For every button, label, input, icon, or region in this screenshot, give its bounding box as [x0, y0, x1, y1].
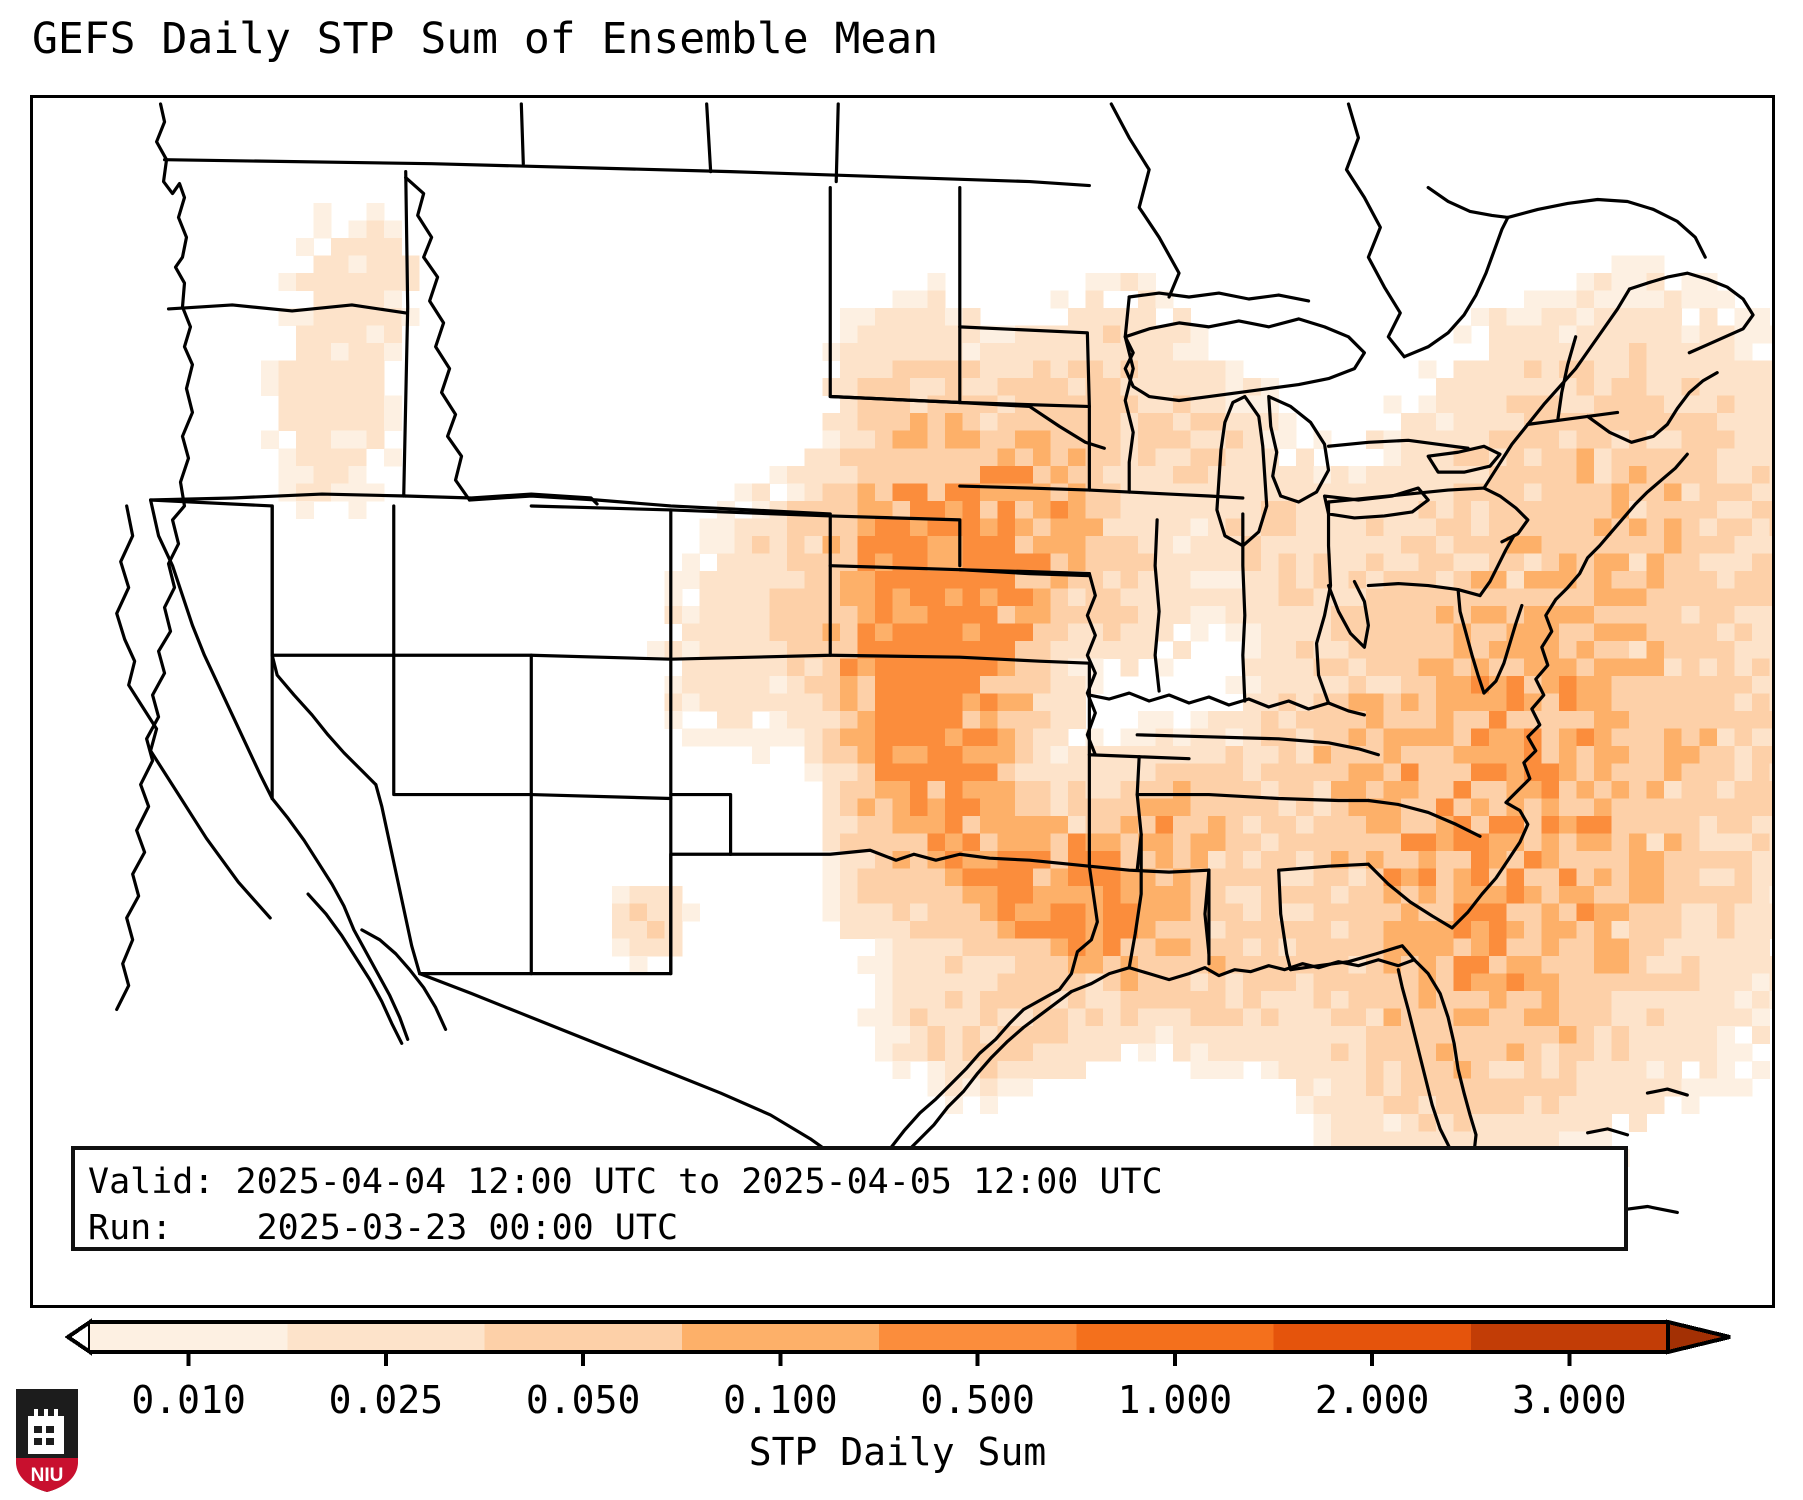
stp-grid-cell [1717, 518, 1735, 536]
conus-map-frame[interactable]: Valid: 2025-04-04 12:00 UTC to 2025-04-0… [30, 95, 1775, 1308]
stp-grid-cell [1208, 483, 1226, 501]
stp-grid-cell [1384, 1114, 1402, 1132]
stp-grid-cell [910, 448, 928, 466]
stp-grid-cell [1050, 921, 1068, 939]
stp-grid-cell [1120, 658, 1138, 676]
stp-grid-cell [1138, 763, 1156, 781]
stp-grid-cell [1576, 641, 1594, 659]
stp-grid-cell [384, 308, 402, 326]
stp-grid-cell [1664, 781, 1682, 799]
stp-grid-cell [1050, 378, 1068, 396]
stp-grid-cell [1191, 781, 1209, 799]
stp-grid-cell [1226, 728, 1244, 746]
stp-grid-cell [1454, 1114, 1472, 1132]
stp-grid-cell [1664, 413, 1682, 431]
stp-grid-cell [1348, 991, 1366, 1009]
stp-grid-cell [980, 746, 998, 764]
stp-grid-cell [1506, 1026, 1524, 1044]
stp-grid-cell [664, 886, 682, 904]
stp-grid-cell [875, 466, 893, 484]
stp-grid-cell [945, 886, 963, 904]
stp-grid-cell [1401, 921, 1419, 939]
stp-grid-cell [1752, 483, 1770, 501]
stp-grid-cell [1699, 869, 1717, 887]
stp-grid-cell [1576, 816, 1594, 834]
stp-grid-cell [1647, 921, 1665, 939]
stp-grid-cell [1138, 834, 1156, 852]
stp-grid-cell [1559, 588, 1577, 606]
stp-grid-cell [1173, 834, 1191, 852]
stp-grid-cell [1541, 1096, 1559, 1114]
stp-grid-cell [1120, 1009, 1138, 1027]
stp-grid-cell [1612, 799, 1630, 817]
stp-grid-cell [980, 956, 998, 974]
stp-grid-cell [875, 483, 893, 501]
stp-grid-cell [770, 571, 788, 589]
stp-grid-cell [945, 396, 963, 414]
stp-grid-cell [910, 308, 928, 326]
stp-grid-cell [998, 991, 1016, 1009]
stp-grid-cell [1331, 1061, 1349, 1079]
stp-grid-cell [875, 396, 893, 414]
stp-grid-cell [1033, 799, 1051, 817]
stp-grid-cell [1524, 291, 1542, 309]
stp-grid-cell [1068, 676, 1086, 694]
stp-grid-cell [1068, 361, 1086, 379]
stp-grid-cell [629, 939, 647, 957]
stp-grid-cell [1156, 728, 1174, 746]
stp-grid-cell [1454, 378, 1472, 396]
stp-grid-cell [1103, 536, 1121, 554]
stp-grid-cell [1138, 781, 1156, 799]
stp-grid-cell [822, 553, 840, 571]
stp-grid-cell [1752, 746, 1770, 764]
stp-grid-cell [349, 431, 367, 449]
stp-grid-cell [1138, 326, 1156, 344]
stp-grid-cell [314, 361, 332, 379]
stp-grid-cell [752, 518, 770, 536]
stp-grid-cell [1559, 571, 1577, 589]
stp-grid-cell [1261, 974, 1279, 992]
stp-grid-cell [1296, 693, 1314, 711]
stp-grid-cell [1489, 378, 1507, 396]
stp-grid-cell [1384, 483, 1402, 501]
stp-grid-cell [805, 448, 823, 466]
stp-grid-cell [945, 501, 963, 519]
stp-grid-cell [1664, 1026, 1682, 1044]
stp-grid-cell [1156, 1026, 1174, 1044]
stp-grid-cell [1050, 711, 1068, 729]
stp-grid-cell [1173, 1026, 1191, 1044]
stp-grid-cell [1313, 991, 1331, 1009]
stp-grid-cell [1682, 834, 1700, 852]
stp-grid-cell [1015, 921, 1033, 939]
stp-grid-cell [1629, 1061, 1647, 1079]
stp-grid-cell [1769, 413, 1772, 431]
stp-grid-cell [1401, 869, 1419, 887]
stp-grid-cell [1524, 518, 1542, 536]
stp-grid-cell [384, 238, 402, 256]
stp-grid-cell [1541, 676, 1559, 694]
stp-grid-cell [928, 518, 946, 536]
stp-grid-cell [928, 886, 946, 904]
stp-grid-cell [331, 396, 349, 414]
stp-grid-cell [875, 1044, 893, 1062]
stp-grid-cell [1033, 693, 1051, 711]
stp-grid-cell [1612, 378, 1630, 396]
stp-grid-cell [752, 623, 770, 641]
stp-grid-cell [822, 518, 840, 536]
stp-grid-cell [910, 921, 928, 939]
stp-grid-cell [928, 921, 946, 939]
stp-grid-cell [1594, 571, 1612, 589]
stp-grid-cell [1120, 273, 1138, 291]
stp-grid-cell [1612, 711, 1630, 729]
stp-grid-cell [1682, 763, 1700, 781]
stp-grid-cell [1541, 361, 1559, 379]
stp-grid-cell [1629, 728, 1647, 746]
stp-grid-cell [1682, 641, 1700, 659]
stp-grid-cell [822, 676, 840, 694]
stp-grid-cell [840, 763, 858, 781]
stp-grid-cell [945, 1026, 963, 1044]
stp-grid-cell [1524, 343, 1542, 361]
stp-grid-cell [857, 904, 875, 922]
stp-grid-cell [1664, 606, 1682, 624]
stp-grid-cell [1296, 711, 1314, 729]
stp-grid-cell [1629, 571, 1647, 589]
stp-grid-cell [1717, 834, 1735, 852]
stp-grid-cell [1313, 921, 1331, 939]
stp-grid-cell [1594, 1044, 1612, 1062]
stp-grid-cell [1331, 904, 1349, 922]
stp-grid-cell [1384, 588, 1402, 606]
stp-grid-cell [1524, 1114, 1542, 1132]
stp-grid-cell [1366, 904, 1384, 922]
stp-grid-cell [1296, 956, 1314, 974]
stp-grid-cell [1296, 816, 1314, 834]
stp-grid-cell [980, 1026, 998, 1044]
stp-grid-cell [1401, 693, 1419, 711]
stp-grid-cell [1612, 1061, 1630, 1079]
stp-grid-cell [1576, 518, 1594, 536]
stp-grid-cell [1629, 308, 1647, 326]
stp-grid-cell [1050, 1026, 1068, 1044]
stp-grid-cell [1085, 851, 1103, 869]
stp-grid-cell [1033, 676, 1051, 694]
stp-grid-cell [875, 834, 893, 852]
stp-grid-cell [1033, 1061, 1051, 1079]
stp-grid-cell [1647, 588, 1665, 606]
stp-grid-cell [1436, 431, 1454, 449]
stp-grid-cell [1682, 623, 1700, 641]
stp-grid-cell [366, 431, 384, 449]
stp-grid-cell [1103, 763, 1121, 781]
stp-grid-cell [1384, 746, 1402, 764]
stp-grid-cell [1682, 501, 1700, 519]
stp-grid-cell [1682, 781, 1700, 799]
stp-grid-cell [1471, 483, 1489, 501]
stp-grid-cell [1401, 466, 1419, 484]
stp-grid-cell [1050, 553, 1068, 571]
colorbar[interactable] [0, 1316, 1803, 1366]
stp-grid-cell [980, 763, 998, 781]
stp-grid-cell [1489, 834, 1507, 852]
stp-grid-cell [1559, 553, 1577, 571]
stp-grid-cell [647, 921, 665, 939]
stp-grid-cell [1506, 816, 1524, 834]
stp-grid-cell [1664, 851, 1682, 869]
stp-grid-cell [980, 641, 998, 659]
stp-grid-cell [1173, 326, 1191, 344]
stp-grid-cell [980, 396, 998, 414]
stp-grid-cell [787, 623, 805, 641]
stp-grid-cell [1068, 921, 1086, 939]
stp-grid-cell [875, 676, 893, 694]
stp-grid-cell [279, 273, 297, 291]
stp-grid-cell [1015, 904, 1033, 922]
stp-grid-cell [1524, 326, 1542, 344]
stp-grid-cell [1454, 904, 1472, 922]
stp-grid-cell [1419, 641, 1437, 659]
stp-grid-cell [1682, 431, 1700, 449]
stp-grid-cell [1647, 361, 1665, 379]
stp-grid-cell [1612, 991, 1630, 1009]
stp-grid-cell [1243, 623, 1261, 641]
stp-grid-cell [1506, 781, 1524, 799]
stp-grid-cell [279, 413, 297, 431]
stp-grid-cell [875, 588, 893, 606]
stp-grid-cell [1769, 501, 1772, 519]
stp-grid-cell [1103, 641, 1121, 659]
stp-grid-cell [1261, 1026, 1279, 1044]
stp-grid-cell [963, 343, 981, 361]
stp-grid-cell [1068, 869, 1086, 887]
stp-grid-cell [1366, 1009, 1384, 1027]
stp-grid-cell [1138, 343, 1156, 361]
stp-grid-cell [1682, 939, 1700, 957]
stp-grid-cell [349, 378, 367, 396]
stp-grid-cell [928, 991, 946, 1009]
stp-grid-cell [1401, 483, 1419, 501]
stp-grid-cell [1524, 763, 1542, 781]
stp-grid-cell [296, 273, 314, 291]
stp-grid-cell [1103, 1026, 1121, 1044]
stp-grid-cell [1243, 886, 1261, 904]
stp-grid-cell [1559, 326, 1577, 344]
stp-grid-cell [1208, 396, 1226, 414]
stp-grid-cell [1647, 431, 1665, 449]
stp-grid-cell [314, 326, 332, 344]
stp-grid-cell [1085, 588, 1103, 606]
stp-grid-cell [1612, 326, 1630, 344]
stp-grid-cell [1068, 1044, 1086, 1062]
stp-grid-cell [1752, 501, 1770, 519]
stp-grid-cell [1629, 641, 1647, 659]
stp-grid-cell [1576, 886, 1594, 904]
stp-grid-cell [1120, 571, 1138, 589]
colorbar-axis-label: STP Daily Sum [0, 1430, 1803, 1474]
stp-grid-cell [1541, 641, 1559, 659]
stp-grid-cell [1717, 921, 1735, 939]
stp-grid-cell [1068, 326, 1086, 344]
stp-grid-cell [1296, 939, 1314, 957]
stp-grid-cell [1576, 956, 1594, 974]
stp-grid-cell [682, 623, 700, 641]
stp-grid-cell [752, 658, 770, 676]
stp-grid-cell [1033, 869, 1051, 887]
stp-grid-cell [1226, 763, 1244, 781]
stp-grid-cell [875, 606, 893, 624]
stp-grid-cell [770, 711, 788, 729]
stp-grid-cell [1419, 728, 1437, 746]
stp-grid-cell [1331, 676, 1349, 694]
stp-grid-cell [1699, 991, 1717, 1009]
stp-grid-cell [1243, 501, 1261, 519]
stp-grid-cell [1173, 413, 1191, 431]
stp-grid-cell [1699, 536, 1717, 554]
stp-grid-cell [1068, 1009, 1086, 1027]
stp-grid-cell [1331, 728, 1349, 746]
stp-grid-cell [735, 623, 753, 641]
stp-grid-cell [1419, 1079, 1437, 1097]
stp-grid-cell [1138, 991, 1156, 1009]
stp-grid-cell [1348, 956, 1366, 974]
stp-grid-cell [1401, 1044, 1419, 1062]
stp-grid-cell [910, 904, 928, 922]
stp-grid-cell [1173, 308, 1191, 326]
stp-grid-cell [1419, 939, 1437, 957]
stp-grid-cell [1734, 1009, 1752, 1027]
stp-grid-cell [1050, 1009, 1068, 1027]
stp-grid-cell [1261, 658, 1279, 676]
stp-grid-cell [1085, 326, 1103, 344]
stp-grid-cell [1033, 728, 1051, 746]
stp-grid-cell [1682, 904, 1700, 922]
stp-grid-cell [1594, 361, 1612, 379]
stp-grid-cell [349, 413, 367, 431]
stp-grid-cell [1226, 886, 1244, 904]
stp-grid-cell [857, 518, 875, 536]
stp-grid-cell [998, 1061, 1016, 1079]
stp-grid-cell [1506, 501, 1524, 519]
stp-grid-cell [1243, 553, 1261, 571]
stp-grid-cell [1331, 1044, 1349, 1062]
stp-grid-cell [1489, 746, 1507, 764]
stp-grid-cell [1524, 939, 1542, 957]
stp-grid-cell [998, 658, 1016, 676]
stp-grid-cell [1629, 1079, 1647, 1097]
stp-grid-cell [1454, 448, 1472, 466]
stp-grid-cell [928, 1061, 946, 1079]
stp-grid-cell [945, 851, 963, 869]
stp-grid-cell [1068, 396, 1086, 414]
stp-grid-cell [980, 623, 998, 641]
stp-grid-cell [1419, 483, 1437, 501]
stp-grid-cell [945, 326, 963, 344]
stp-grid-cell [1699, 396, 1717, 414]
stp-grid-cell [1033, 448, 1051, 466]
stp-grid-cell [1331, 606, 1349, 624]
stp-grid-cell [1629, 1044, 1647, 1062]
stp-grid-cell [963, 676, 981, 694]
stp-grid-cell [892, 588, 910, 606]
stp-grid-cell [980, 939, 998, 957]
stp-grid-cell [1717, 799, 1735, 817]
stp-grid-cell [1734, 676, 1752, 694]
stp-grid-cell [1664, 956, 1682, 974]
stp-grid-cell [1524, 1079, 1542, 1097]
stp-grid-cell [1419, 921, 1437, 939]
stp-grid-cell [1436, 676, 1454, 694]
stp-grid-cell [1313, 536, 1331, 554]
stp-grid-cell [928, 658, 946, 676]
stp-grid-cell [1699, 308, 1717, 326]
stp-grid-cell [1524, 431, 1542, 449]
stp-grid-cell [1524, 1096, 1542, 1114]
stp-grid-cell [1419, 763, 1437, 781]
stp-grid-cell [1296, 606, 1314, 624]
stp-grid-cell [1664, 343, 1682, 361]
stp-grid-cell [279, 448, 297, 466]
stp-grid-cell [296, 308, 314, 326]
stp-grid-cell [1138, 308, 1156, 326]
stp-grid-cell [1033, 851, 1051, 869]
stp-grid-cell [331, 273, 349, 291]
stp-grid-cell [1191, 921, 1209, 939]
stp-grid-cell [1015, 413, 1033, 431]
stp-grid-cell [1050, 886, 1068, 904]
stp-grid-cell [1506, 676, 1524, 694]
stp-grid-cell [1384, 536, 1402, 554]
stp-grid-cell [1489, 974, 1507, 992]
valid-time-line: Valid: 2025-04-04 12:00 UTC to 2025-04-0… [88, 1159, 1624, 1205]
stp-grid-cell [1489, 904, 1507, 922]
stp-grid-cell [1629, 413, 1647, 431]
stp-grid-cell [1156, 623, 1174, 641]
stp-grid-cell [1664, 1044, 1682, 1062]
stp-grid-cell [1120, 746, 1138, 764]
stp-grid-cell [1699, 851, 1717, 869]
stp-grid-cell [1366, 991, 1384, 1009]
stp-grid-cell [1436, 781, 1454, 799]
stp-grid-cell [1576, 763, 1594, 781]
stp-grid-cell [1769, 588, 1772, 606]
colorbar-tick-label: 0.100 [723, 1378, 837, 1422]
stp-grid-cell [1629, 1114, 1647, 1132]
stp-grid-cell [1471, 763, 1489, 781]
stp-grid-cell [1436, 1061, 1454, 1079]
stp-grid-cell [1103, 974, 1121, 992]
stp-grid-cell [945, 1044, 963, 1062]
stp-grid-cell [1454, 606, 1472, 624]
stp-grid-cell [1419, 816, 1437, 834]
stp-grid-cell [1120, 396, 1138, 414]
stp-grid-cell [892, 921, 910, 939]
stp-grid-cell [1524, 728, 1542, 746]
stp-grid-cell [1278, 869, 1296, 887]
stp-grid-cell [1156, 886, 1174, 904]
stp-grid-cell [1331, 1114, 1349, 1132]
stp-grid-cell [892, 378, 910, 396]
stp-grid-cell [1576, 571, 1594, 589]
stp-grid-cell [384, 273, 402, 291]
stp-grid-cell [1752, 606, 1770, 624]
stp-grid-cell [875, 799, 893, 817]
stp-grid-cell [1226, 413, 1244, 431]
stp-grid-cell [1594, 834, 1612, 852]
stp-grid-cell [963, 1026, 981, 1044]
